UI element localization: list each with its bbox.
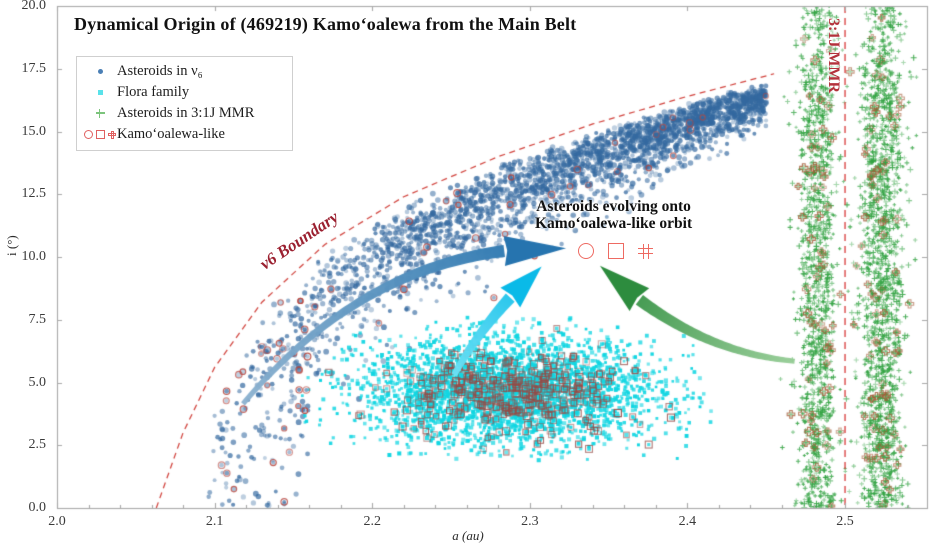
open-plus-icon <box>638 244 653 259</box>
legend-item-kamooalewa: Kamo‘oalewa-like <box>83 124 286 145</box>
legend-label: Asteroids in ν₆ <box>117 63 203 80</box>
plus-marker-icon <box>83 109 117 118</box>
legend-item-mmr: Asteroids in 3:1J MMR <box>83 103 286 124</box>
legend-label: Flora family <box>117 84 189 101</box>
legend-label: Asteroids in 3:1J MMR <box>117 105 254 122</box>
x-tick-label: 2.2 <box>363 514 381 530</box>
y-tick-label: 7.5 <box>0 312 46 328</box>
square-marker-icon <box>83 90 117 95</box>
y-tick-label: 20.0 <box>0 0 46 14</box>
y-tick-label: 10.0 <box>0 249 46 265</box>
y-tick-label: 12.5 <box>0 186 46 202</box>
plot-title: Dynamical Origin of (469219) Kamo‘oalewa… <box>74 14 576 35</box>
kamooalewa-like-marker-group <box>578 243 653 259</box>
y-tick-label: 0.0 <box>0 500 46 516</box>
x-tick-label: 2.1 <box>206 514 224 530</box>
legend: Asteroids in ν₆ Flora family Asteroids i… <box>76 56 293 151</box>
x-axis-title: a (au) <box>0 528 936 544</box>
x-tick-label: 2.4 <box>679 514 697 530</box>
y-tick-label: 2.5 <box>0 437 46 453</box>
legend-label: Kamo‘oalewa-like <box>117 126 225 143</box>
circle-marker-icon <box>83 69 117 74</box>
evolving-annotation: Asteroids evolving onto Kamo‘oalewa-like… <box>535 198 692 233</box>
open-circle-icon <box>578 243 594 259</box>
x-axis-title-text: a (au) <box>452 528 483 543</box>
legend-item-flora: Flora family <box>83 82 286 103</box>
open-trio-marker-icon <box>83 130 117 139</box>
open-square-icon <box>608 243 624 259</box>
legend-item-nu6: Asteroids in ν₆ <box>83 61 286 82</box>
y-tick-label: 15.0 <box>0 124 46 140</box>
x-tick-label: 2.0 <box>48 514 66 530</box>
figure-root: Dynamical Origin of (469219) Kamo‘oalewa… <box>0 0 936 553</box>
x-tick-label: 2.3 <box>521 514 539 530</box>
mmr-line-label: 3:1J MMR <box>824 18 842 93</box>
evolving-annotation-line2: Kamo‘oalewa-like orbit <box>535 215 692 232</box>
y-tick-label: 5.0 <box>0 375 46 391</box>
x-tick-label: 2.5 <box>836 514 854 530</box>
y-tick-label: 17.5 <box>0 61 46 77</box>
evolving-annotation-line1: Asteroids evolving onto <box>535 198 692 215</box>
